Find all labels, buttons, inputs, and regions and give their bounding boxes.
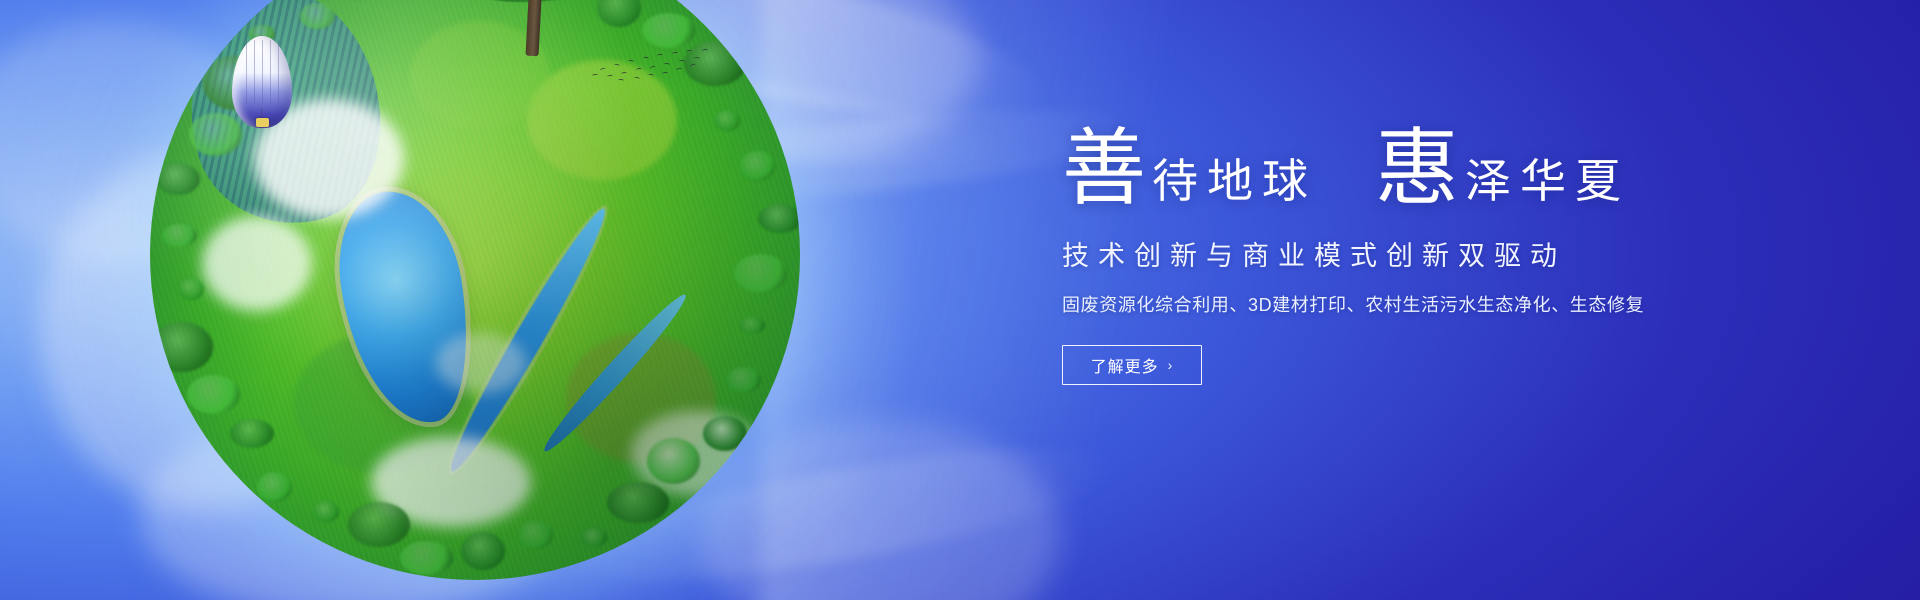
terrain-patch — [293, 333, 473, 473]
tree-canopy — [313, 501, 339, 522]
bird-icon — [664, 63, 670, 67]
hot-air-balloon — [232, 36, 292, 128]
page-title: 善 待地球 惠 泽华夏 — [1062, 128, 1762, 212]
hero-description: 固废资源化综合利用、3D建材打印、农村生活污水生态净化、生态修复 — [1062, 291, 1762, 317]
bird-icon — [614, 64, 620, 68]
tree-canopy — [726, 367, 761, 393]
tree-canopy — [739, 317, 765, 334]
bird-flock — [590, 48, 720, 90]
bird-icon — [636, 67, 642, 71]
balloon-basket — [256, 118, 269, 127]
tree-canopy — [257, 472, 292, 502]
tree-canopy — [647, 438, 700, 484]
chevron-right-icon: › — [1168, 357, 1174, 373]
tree-canopy — [187, 375, 240, 414]
bird-icon — [643, 57, 649, 60]
globe-cloud — [371, 437, 531, 527]
headline-glyph-shan: 善 — [1062, 128, 1146, 212]
globe-cloud — [202, 216, 312, 311]
lake — [327, 182, 482, 433]
bird-icon — [686, 49, 692, 53]
bird-icon — [679, 60, 685, 64]
tree-canopy — [581, 528, 607, 547]
tree-canopy — [734, 254, 787, 293]
learn-more-label: 了解更多 — [1091, 353, 1159, 377]
bird-icon — [592, 74, 598, 77]
bird-icon — [662, 72, 668, 75]
river — [439, 204, 616, 477]
tree-canopy — [230, 419, 274, 448]
bird-icon — [648, 74, 654, 77]
bird-icon — [607, 75, 613, 78]
tree-canopy — [740, 151, 775, 181]
bird-icon — [690, 63, 697, 68]
bird-icon — [621, 71, 627, 75]
tree-canopy — [607, 482, 669, 523]
tree-canopy — [714, 110, 740, 131]
bird-icon — [657, 54, 663, 57]
tree-canopy — [518, 521, 553, 549]
hero-tagline: 技术创新与商业模式创新双驱动 — [1062, 234, 1762, 273]
headline-glyph-hui: 惠 — [1375, 128, 1459, 212]
tree-canopy — [642, 13, 695, 48]
globe-cloud — [631, 411, 761, 496]
bird-icon — [628, 60, 634, 63]
bird-icon — [600, 67, 607, 72]
tree-canopy — [597, 0, 641, 27]
tree-canopy — [162, 224, 197, 247]
hero-banner: 善 待地球 惠 泽华夏 技术创新与商业模式创新双驱动 固废资源化综合利用、3D建… — [0, 0, 1920, 600]
bird-icon — [634, 77, 640, 81]
headline-text-zehuaxia: 泽华夏 — [1465, 159, 1630, 205]
terrain-patch — [566, 333, 716, 463]
river — [537, 288, 692, 457]
headline-text-daidiqiu: 待地球 — [1152, 159, 1317, 205]
tree-canopy — [156, 163, 200, 195]
balloon-envelope — [232, 36, 292, 128]
tree-canopy — [703, 416, 747, 451]
tree-canopy — [178, 278, 204, 301]
tree-canopy — [400, 541, 453, 576]
bird-icon — [672, 52, 678, 55]
tree-canopy — [151, 322, 213, 372]
tree-canopy — [758, 204, 800, 233]
bird-icon — [694, 57, 700, 61]
learn-more-button[interactable]: 了解更多 › — [1062, 345, 1202, 385]
bird-icon — [676, 67, 682, 71]
tree-canopy — [300, 3, 335, 29]
bird-icon — [650, 65, 657, 70]
bird-icon — [618, 79, 624, 82]
bird-icon — [702, 49, 708, 52]
tree-canopy — [461, 532, 505, 570]
hero-copy: 善 待地球 惠 泽华夏 技术创新与商业模式创新双驱动 固废资源化综合利用、3D建… — [1062, 128, 1762, 385]
globe-cloud — [436, 333, 526, 393]
tree-canopy — [348, 502, 410, 547]
